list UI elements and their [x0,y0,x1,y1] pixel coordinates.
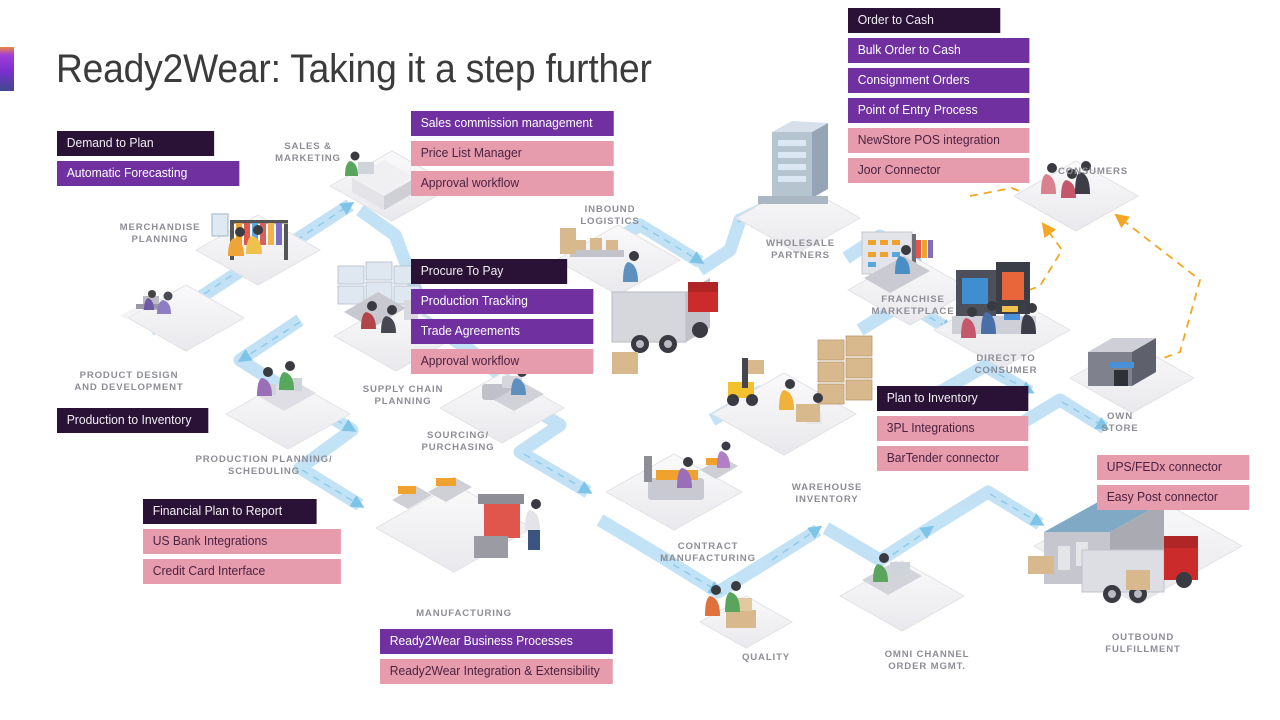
chip-group-demand-to-plan: Demand to Plan Automatic Forecasting [57,131,245,191]
chip-financial-plan-to-report[interactable]: Financial Plan to Report [143,499,317,524]
chip-production-to-inventory[interactable]: Production to Inventory [57,408,208,433]
chip-legend-business-processes: Ready2Wear Business Processes [380,629,613,654]
chip-automatic-forecasting[interactable]: Automatic Forecasting [57,161,239,186]
chip-3pl-integrations[interactable]: 3PL Integrations [877,416,1028,441]
chip-demand-to-plan[interactable]: Demand to Plan [57,131,214,156]
chip-approval-workflow-procure[interactable]: Approval workflow [411,349,593,374]
chip-ups-fedx-connector[interactable]: UPS/FEDx connector [1097,455,1249,480]
chip-group-procure-to-pay: Procure To Pay Production Tracking Trade… [411,259,599,379]
chip-us-bank-integrations[interactable]: US Bank Integrations [143,529,341,554]
chip-joor-connector[interactable]: Joor Connector [848,158,1029,183]
chip-sales-commission-management[interactable]: Sales commission management [411,111,614,136]
chip-procure-to-pay[interactable]: Procure To Pay [411,259,567,284]
chip-easy-post-connector[interactable]: Easy Post connector [1097,485,1249,510]
chip-point-of-entry-process[interactable]: Point of Entry Process [848,98,1029,123]
chip-production-tracking[interactable]: Production Tracking [411,289,593,314]
slide-canvas: Ready2Wear: Taking it a step further [0,0,1280,720]
chip-bulk-order-to-cash[interactable]: Bulk Order to Cash [848,38,1029,63]
chip-credit-card-interface[interactable]: Credit Card Interface [143,559,341,584]
isometric-supply-chain-scene [0,0,1280,720]
chip-group-production-to-inventory: Production to Inventory [57,408,213,438]
chip-group-ready2wear-legend: Ready2Wear Business Processes Ready2Wear… [380,629,620,689]
chip-group-plan-to-inventory: Plan to Inventory 3PL Integrations BarTe… [877,386,1033,476]
chip-group-financial-plan-to-report: Financial Plan to Report US Bank Integra… [143,499,347,589]
chip-order-to-cash[interactable]: Order to Cash [848,8,1000,33]
chip-group-order-to-cash: Order to Cash Bulk Order to Cash Consign… [848,8,1035,188]
chip-trade-agreements[interactable]: Trade Agreements [411,319,593,344]
chip-price-list-manager[interactable]: Price List Manager [411,141,614,166]
chip-approval-workflow-sales[interactable]: Approval workflow [411,171,614,196]
chip-newstore-pos-integration[interactable]: NewStore POS integration [848,128,1029,153]
chip-plan-to-inventory[interactable]: Plan to Inventory [877,386,1028,411]
chip-group-sales-marketing: Sales commission management Price List M… [411,111,620,201]
chip-bartender-connector[interactable]: BarTender connector [877,446,1028,471]
chip-legend-integration-extensibility: Ready2Wear Integration & Extensibility [380,659,613,684]
chip-group-shipping-connectors: UPS/FEDx connector Easy Post connector [1097,455,1254,515]
chip-consignment-orders[interactable]: Consignment Orders [848,68,1029,93]
